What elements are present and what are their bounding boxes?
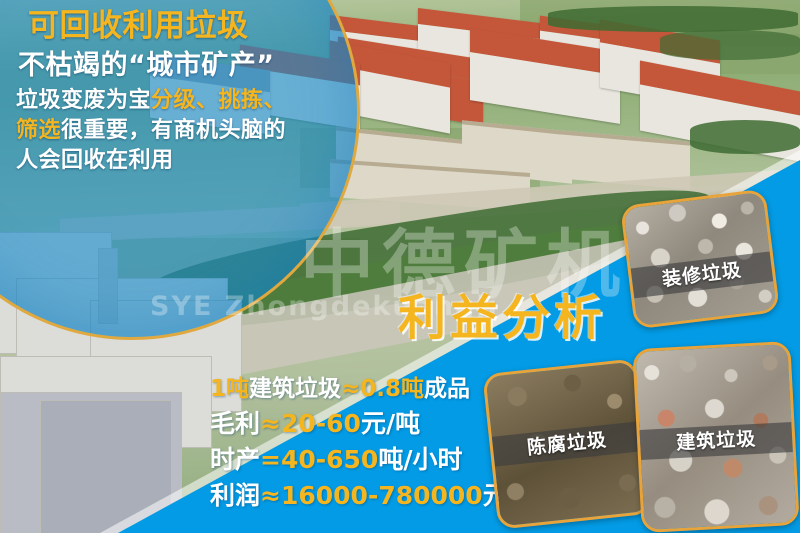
stat-lead-output-label: 成品 xyxy=(424,376,470,402)
stat-lead-input-qty: 1吨 xyxy=(210,376,249,402)
stat-operator: = xyxy=(260,445,281,474)
circle-body-1-plain: 垃圾变废为宝 xyxy=(16,88,151,113)
stat-value: 20-60 xyxy=(281,409,361,438)
thumbnail-construction-waste[interactable]: 建筑垃圾 xyxy=(632,341,799,533)
tree-line xyxy=(548,6,798,32)
stat-lead-input-label: 建筑垃圾 xyxy=(249,376,341,402)
stat-unit: 吨/小时 xyxy=(378,445,462,474)
stat-unit: 元/吨 xyxy=(361,409,420,438)
promo-banner: 中德矿机 SYE Zhongdekuangji 可回收利用垃圾 不枯竭的“城市矿… xyxy=(0,0,800,533)
circle-body-line-2: 筛选很重要，有商机头脑的 xyxy=(10,116,328,146)
thumbnail-stale-waste[interactable]: 陈腐垃圾 xyxy=(482,358,651,529)
page-title: 利益分析 xyxy=(398,278,606,348)
stat-label: 利润 xyxy=(210,481,260,510)
stat-label: 毛利 xyxy=(210,409,260,438)
circle-body-3-plain: 人会回收在利用 xyxy=(16,148,174,173)
stat-value: 40-650 xyxy=(281,445,378,474)
circle-text-block: 可回收利用垃圾 不枯竭的“城市矿产” 垃圾变废为宝分级、挑拣、 筛选很重要，有商… xyxy=(10,6,328,176)
stat-operator: ≈ xyxy=(260,481,281,510)
stat-label: 时产 xyxy=(210,445,260,474)
tree-line xyxy=(690,120,800,154)
circle-body-2-highlight: 筛选 xyxy=(16,118,61,143)
stat-value: 16000-780000 xyxy=(281,481,483,510)
circle-body-2-plain: 很重要，有商机头脑的 xyxy=(61,118,286,143)
tree-line xyxy=(660,30,800,60)
circle-subheading: 不枯竭的“城市矿产” xyxy=(10,46,328,86)
thumbnail-renovation-waste[interactable]: 装修垃圾 xyxy=(620,189,780,330)
circle-body-1-highlight: 分级、挑拣、 xyxy=(151,88,286,113)
stat-operator: ≈ xyxy=(260,409,281,438)
circle-body-line-3: 人会回收在利用 xyxy=(10,146,328,176)
circle-heading: 可回收利用垃圾 xyxy=(10,6,328,46)
circle-body-line-1: 垃圾变废为宝分级、挑拣、 xyxy=(10,86,328,116)
stat-lead-output-qty: ≈0.8吨 xyxy=(341,376,424,402)
stat-row-profit: 利润≈16000-780000元/天 xyxy=(210,478,542,514)
